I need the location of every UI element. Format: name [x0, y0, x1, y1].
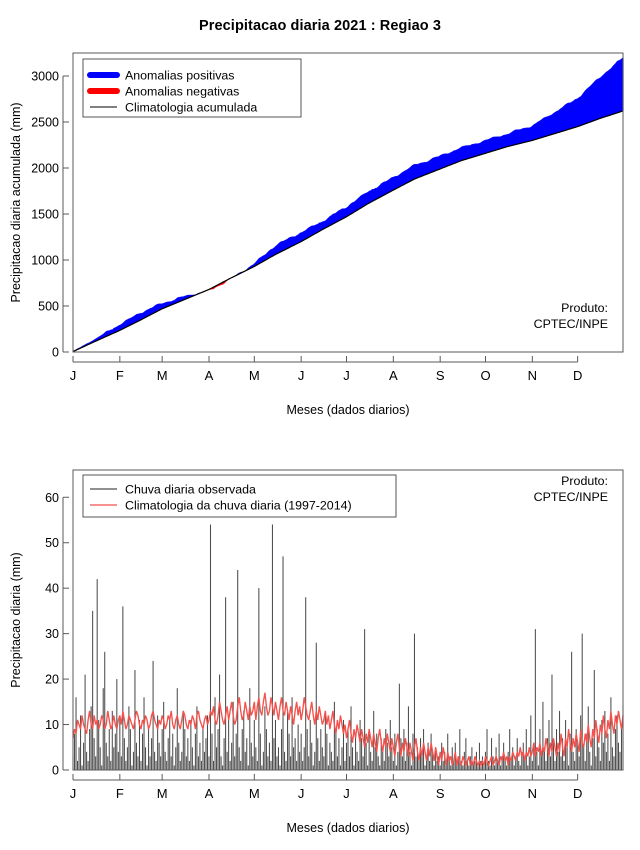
produto-line1: Produto:: [561, 301, 608, 315]
x-tick-label: M: [157, 786, 168, 801]
y-tick-label: 30: [45, 627, 59, 641]
y-tick-label: 500: [38, 300, 59, 314]
x-tick-label: M: [249, 368, 260, 383]
x-tick-label: F: [116, 368, 124, 383]
x-tick-label: D: [573, 368, 582, 383]
produto-line2: CPTEC/INPE: [534, 317, 608, 331]
x-tick-label: F: [116, 786, 124, 801]
x-tick-label: O: [480, 368, 490, 383]
x-tick-label: D: [573, 786, 582, 801]
x-axis: JFMAMJJASOND: [70, 356, 583, 383]
y-axis: 050010001500200025003000: [31, 70, 69, 360]
x-tick-label: J: [70, 368, 77, 383]
climatology-accumulated-line: [73, 111, 623, 352]
legend-label: Climatologia da chuva diaria (1997-2014): [125, 499, 352, 513]
x-tick-label: J: [298, 786, 305, 801]
x-tick-label: N: [528, 368, 537, 383]
daily-data-area: [73, 525, 623, 770]
legend-label: Anomalias negativas: [125, 85, 239, 99]
y-tick-label: 20: [45, 673, 59, 687]
page-title: Precipitacao diaria 2021 : Regiao 3: [0, 18, 640, 34]
produto-line1: Produto:: [561, 474, 608, 488]
x-tick-label: J: [298, 368, 305, 383]
produto-line2: CPTEC/INPE: [534, 490, 608, 504]
y-tick-label: 0: [52, 346, 59, 360]
x-tick-label: M: [157, 368, 168, 383]
x-tick-label: J: [70, 786, 77, 801]
y-tick-label: 2500: [31, 116, 59, 130]
x-tick-label: A: [205, 368, 214, 383]
produto-annotation: Produto:CPTEC/INPE: [534, 474, 608, 504]
legend: Chuva diaria observadaClimatologia da ch…: [83, 475, 396, 517]
legend-label: Anomalias positivas: [125, 69, 235, 83]
y-tick-label: 1000: [31, 254, 59, 268]
x-tick-label: O: [480, 786, 490, 801]
x-tick-label: S: [436, 786, 445, 801]
panel-daily: 0102030405060JFMAMJJASONDPrecipitacao di…: [0, 450, 640, 850]
x-tick-label: A: [389, 786, 398, 801]
y-tick-label: 40: [45, 582, 59, 596]
y-tick-label: 1500: [31, 208, 59, 222]
y-tick-label: 60: [45, 491, 59, 505]
y-tick-label: 50: [45, 536, 59, 550]
x-tick-label: M: [249, 786, 260, 801]
legend-label: Climatologia acumulada: [125, 101, 257, 115]
x-tick-label: S: [436, 368, 445, 383]
x-tick-label: J: [343, 786, 350, 801]
legend: Anomalias positivasAnomalias negativasCl…: [83, 59, 301, 117]
y-tick-label: 3000: [31, 70, 59, 84]
legend-label: Chuva diaria observada: [125, 483, 256, 497]
y-tick-label: 2000: [31, 162, 59, 176]
y-tick-label: 10: [45, 718, 59, 732]
y-tick-label: 0: [52, 764, 59, 778]
x-axis-title: Meses (dados diarios): [287, 403, 410, 417]
daily-plot: 0102030405060JFMAMJJASONDPrecipitacao di…: [0, 450, 640, 850]
y-axis-title: Precipitacao diaria acumulada (mm): [9, 102, 23, 302]
x-tick-label: J: [343, 368, 350, 383]
y-axis-title: Precipitacao diaria (mm): [9, 552, 23, 687]
y-axis: 0102030405060: [45, 491, 69, 778]
x-axis: JFMAMJJASOND: [70, 774, 583, 801]
produto-annotation: Produto:CPTEC/INPE: [534, 301, 608, 331]
x-tick-label: A: [205, 786, 214, 801]
x-axis-title: Meses (dados diarios): [287, 821, 410, 835]
accumulated-plot: 050010001500200025003000JFMAMJJASONDPrec…: [0, 40, 640, 430]
x-tick-label: N: [528, 786, 537, 801]
panel-accumulated: 050010001500200025003000JFMAMJJASONDPrec…: [0, 40, 640, 430]
chart-page: Precipitacao diaria 2021 : Regiao 3 0500…: [0, 0, 640, 850]
x-tick-label: A: [389, 368, 398, 383]
